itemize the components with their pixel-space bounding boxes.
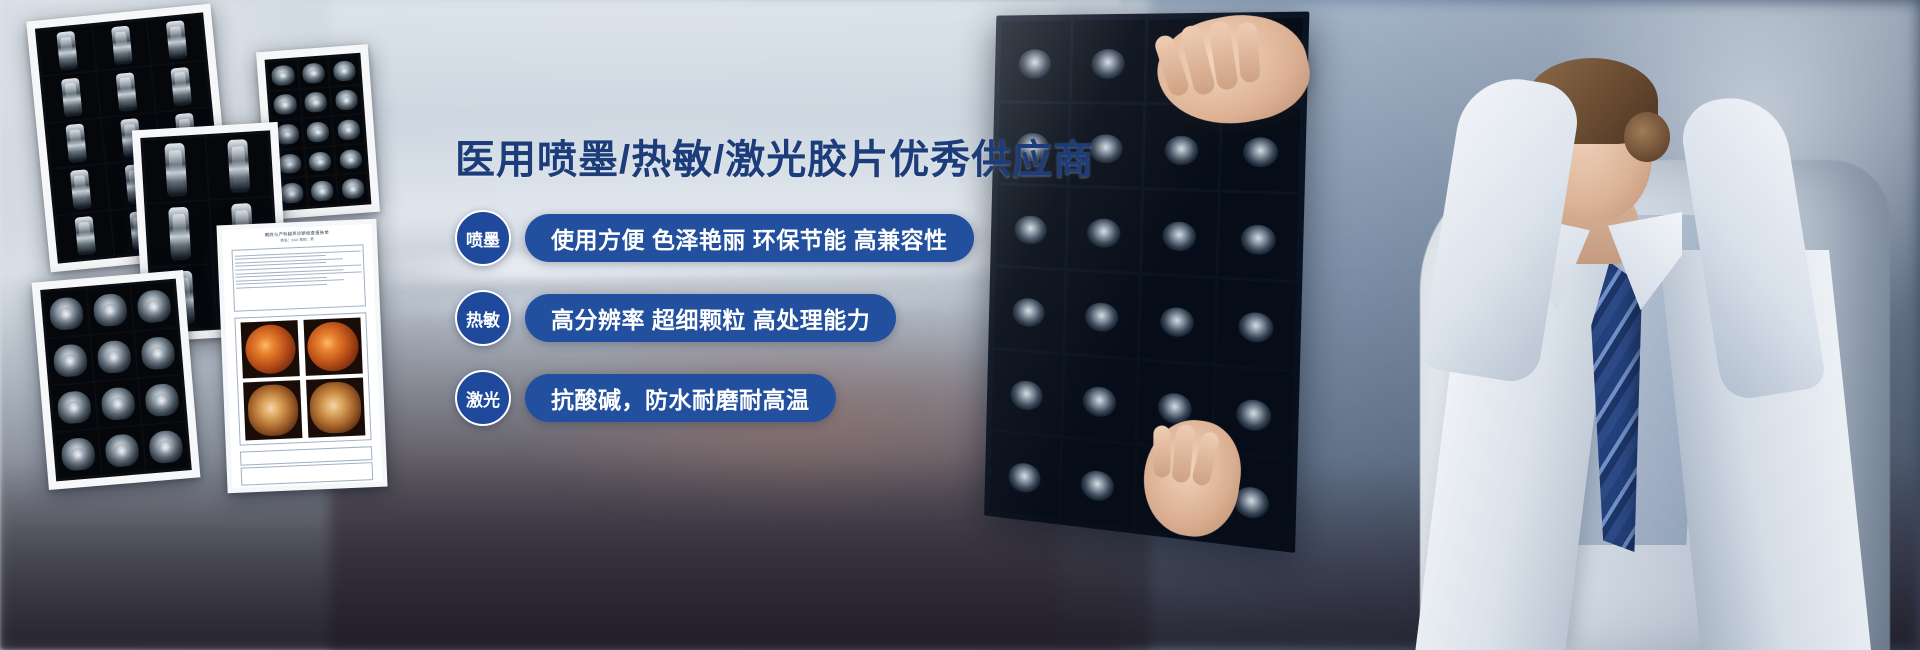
ultrasound-image-1 bbox=[243, 380, 303, 440]
page-title: 医用喷墨/热敏/激光胶片优秀供应商 bbox=[455, 138, 1095, 182]
retina-image-2 bbox=[303, 318, 362, 376]
film-sheet-report: 眼底与产科超声诊断检查报告单 姓名：XXX 性别：男 bbox=[216, 219, 387, 493]
feature-row-inkjet[interactable]: 喷墨 使用方便 色泽艳丽 环保节能 高兼容性 bbox=[455, 210, 1095, 266]
report-footer-box-2 bbox=[241, 462, 374, 486]
feature-list: 喷墨 使用方便 色泽艳丽 环保节能 高兼容性 热敏 高分辨率 超细颗粒 高处理能… bbox=[455, 210, 1095, 426]
feature-text-thermal: 高分辨率 超细颗粒 高处理能力 bbox=[525, 294, 896, 342]
feature-text-laser: 抗酸碱，防水耐磨耐高温 bbox=[525, 374, 836, 422]
badge-inkjet: 喷墨 bbox=[455, 210, 511, 266]
report-image-box bbox=[234, 312, 371, 445]
hero-banner: 眼底与产科超声诊断检查报告单 姓名：XXX 性别：男 bbox=[0, 0, 1920, 650]
report-text-box bbox=[231, 244, 365, 311]
film-stack: 眼底与产科超声诊断检查报告单 姓名：XXX 性别：男 bbox=[0, 0, 420, 520]
ultrasound-image-2 bbox=[306, 377, 366, 437]
film-sheet-brain-mri-grid bbox=[32, 270, 201, 490]
hair-bun bbox=[1624, 112, 1670, 162]
badge-thermal: 热敏 bbox=[455, 290, 511, 346]
hero-content: 医用喷墨/热敏/激光胶片优秀供应商 喷墨 使用方便 色泽艳丽 环保节能 高兼容性… bbox=[455, 138, 1095, 450]
feature-text-inkjet: 使用方便 色泽艳丽 环保节能 高兼容性 bbox=[525, 214, 974, 262]
retina-image-1 bbox=[241, 320, 300, 378]
feature-row-thermal[interactable]: 热敏 高分辨率 超细颗粒 高处理能力 bbox=[455, 290, 1095, 346]
feature-row-laser[interactable]: 激光 抗酸碱，防水耐磨耐高温 bbox=[455, 370, 1095, 426]
badge-laser: 激光 bbox=[455, 370, 511, 426]
doctor-figure bbox=[1060, 0, 1920, 650]
